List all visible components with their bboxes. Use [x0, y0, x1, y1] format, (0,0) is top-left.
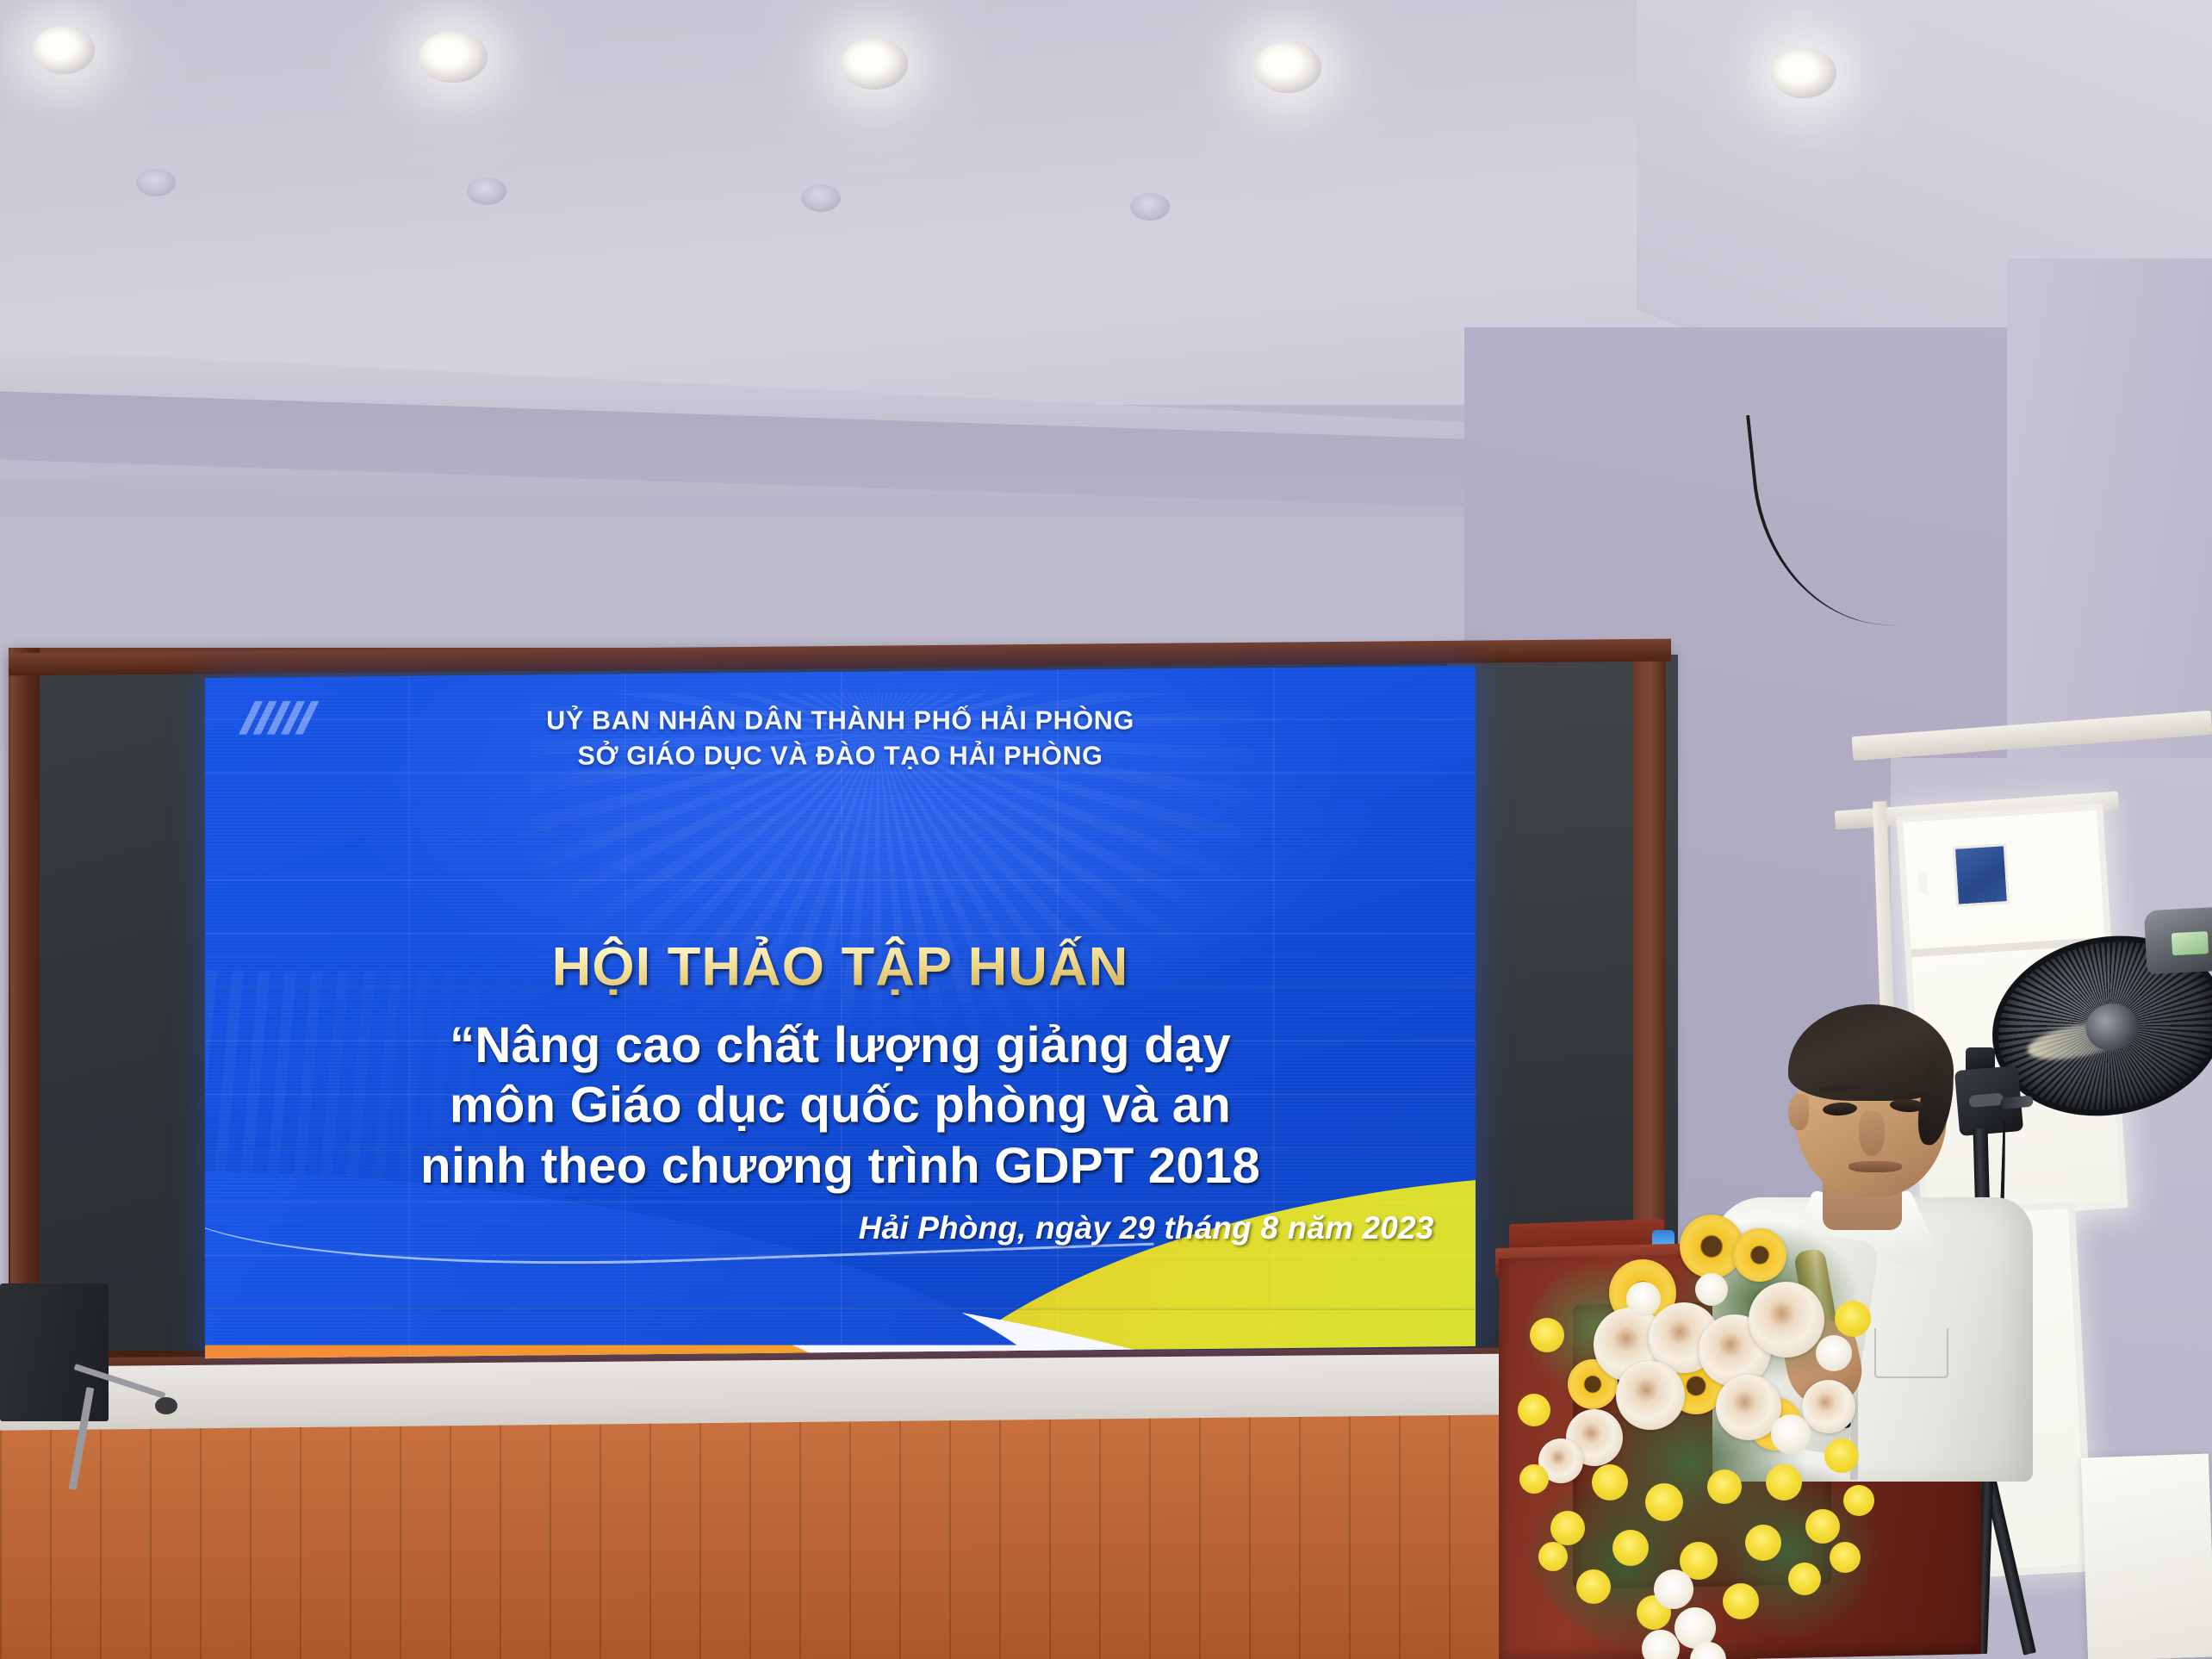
yellow-orchid-blossom — [1830, 1542, 1861, 1573]
soffit-spot-3-icon — [801, 184, 841, 212]
downlight-5-icon — [1771, 48, 1836, 98]
white-board-panel — [2081, 1453, 2212, 1659]
conference-hall-photo: UỶ BAN NHÂN DÂN THÀNH PHỐ HẢI PHÒNG SỞ G… — [0, 0, 2212, 1659]
white-orchid-blossom — [1626, 1282, 1661, 1316]
sunflower-blossom — [1733, 1228, 1786, 1282]
soffit-spot-2-icon — [467, 177, 506, 205]
yellow-orchid-blossom — [1824, 1438, 1859, 1473]
yellow-orchid-blossom — [1518, 1394, 1550, 1426]
yellow-orchid-blossom — [1707, 1469, 1742, 1504]
soffit-spot-1-icon — [136, 169, 176, 196]
white-orchid-blossom — [1771, 1414, 1811, 1454]
white-orchid-blossom — [1654, 1569, 1693, 1609]
yellow-orchid-blossom — [1592, 1464, 1628, 1501]
yellow-orchid-blossom — [1530, 1318, 1564, 1352]
fan-label-sticker — [2172, 931, 2209, 955]
yellow-orchid-blossom — [1788, 1563, 1821, 1595]
yellow-orchid-blossom — [1843, 1485, 1874, 1516]
yellow-orchid-blossom — [1550, 1511, 1585, 1545]
speaker-ear — [1788, 1094, 1809, 1130]
blue-picture-frame — [1953, 843, 2010, 907]
slide: UỶ BAN NHÂN DÂN THÀNH PHỐ HẢI PHÒNG SỞ G… — [205, 666, 1476, 1358]
yellow-orchid-blossom — [1835, 1301, 1871, 1337]
yellow-orchid-blossom — [1519, 1464, 1549, 1494]
led-screen[interactable]: UỶ BAN NHÂN DÂN THÀNH PHỐ HẢI PHÒNG SỞ G… — [205, 666, 1476, 1358]
white-orchid-blossom — [1816, 1335, 1852, 1371]
yellow-orchid-blossom — [1723, 1583, 1759, 1619]
yellow-orchid-blossom — [1645, 1483, 1683, 1521]
yellow-orchid-blossom — [1576, 1569, 1611, 1604]
white-orchid-blossom — [1695, 1273, 1728, 1306]
downlight-2-icon — [419, 31, 488, 83]
speaker-nose — [1859, 1111, 1885, 1156]
microphone-stand — [72, 1378, 176, 1507]
yellow-orchid-blossom — [1538, 1542, 1568, 1571]
downlight-3-icon — [841, 38, 908, 90]
small-wall-note — [1918, 871, 1929, 894]
rose-blossom — [1749, 1282, 1824, 1358]
rose-blossom — [1802, 1380, 1855, 1433]
rose-blossom — [1616, 1361, 1685, 1430]
yellow-orchid-blossom — [1766, 1464, 1802, 1501]
downlight-4-icon — [1254, 41, 1321, 93]
led-panel-seams-vertical — [205, 666, 1476, 1358]
yellow-orchid-blossom — [1745, 1525, 1781, 1561]
soffit-spot-4-icon — [1130, 193, 1170, 221]
yellow-orchid-blossom — [1612, 1530, 1649, 1566]
yellow-orchid-blossom — [1805, 1509, 1840, 1544]
flower-arrangement — [1464, 1180, 1947, 1659]
downlight-1-icon — [33, 26, 95, 74]
speaker-mouth — [1849, 1161, 1902, 1172]
backdrop-frame-post-left — [10, 648, 40, 1364]
